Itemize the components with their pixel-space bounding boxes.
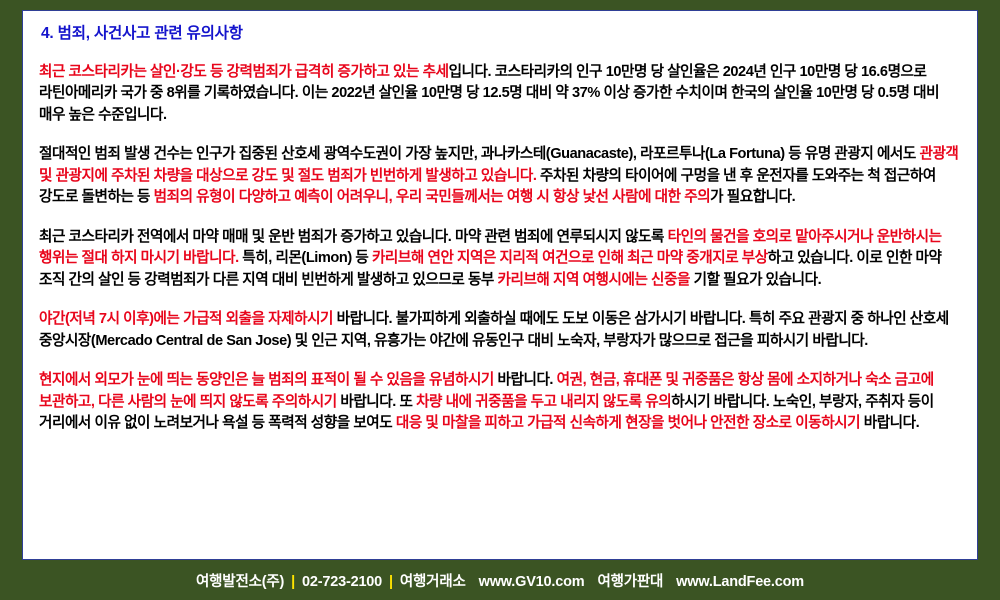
text-run-black: 특히, 리몬(Limon) 등	[239, 250, 372, 266]
footer-separator-1: |	[291, 574, 295, 590]
paragraph-p2-tourist-areas: 절대적인 범죄 발생 건수는 인구가 집중된 산호세 광역수도권이 가장 높지만…	[39, 144, 961, 209]
footer-content: 여행발전소(주) | 02-723-2100 | 여행거래소 www.GV10.…	[196, 570, 804, 591]
text-run-black: 바랍니다.	[860, 415, 919, 431]
paragraph-p5-valuables: 현지에서 외모가 눈에 띄는 동양인은 늘 범죄의 표적이 될 수 있음을 유념…	[39, 370, 961, 435]
footer-brand-label-landfee: 여행가판대	[597, 570, 663, 591]
text-run-red: 범죄의 유형이 다양하고 예측이 어려우니, 우리 국민들께서는 여행 시 항상…	[154, 189, 711, 205]
text-run-black: 기할 필요가 있습니다.	[690, 272, 821, 288]
document-content-card: 4. 범죄, 사건사고 관련 유의사항 최근 코스타리카는 살인·강도 등 강력…	[22, 10, 978, 560]
advisory-paragraph-list: 최근 코스타리카는 살인·강도 등 강력범죄가 급격히 증가하고 있는 추세입니…	[39, 62, 961, 435]
text-run-black: 절대적인 범죄 발생 건수는 인구가 집중된 산호세 광역수도권이 가장 높지만…	[39, 146, 919, 162]
footer-company-name: 여행발전소(주)	[196, 570, 284, 591]
footer-separator-2: |	[389, 574, 393, 590]
text-run-red: 카리브해 연안 지역은 지리적 여건으로 인해 최근 마약 중개지로 부상	[372, 250, 768, 266]
text-run-black: 바랍니다. 또	[337, 394, 416, 410]
footer-bar: 여행발전소(주) | 02-723-2100 | 여행거래소 www.GV10.…	[0, 560, 1000, 600]
text-run-red: 현지에서 외모가 눈에 띄는 동양인은 늘 범죄의 표적이 될 수 있음을 유념…	[39, 372, 494, 388]
footer-phone-number[interactable]: 02-723-2100	[302, 574, 382, 590]
text-run-black: 가 필요합니다.	[710, 189, 795, 205]
paragraph-p4-night-time: 야간(저녁 7시 이후)에는 가급적 외출을 자제하시기 바랍니다. 불가피하게…	[39, 309, 961, 352]
footer-link-landfee[interactable]: www.LandFee.com	[676, 574, 804, 590]
text-run-black: 바랍니다.	[494, 372, 557, 388]
page-title: 4. 범죄, 사건사고 관련 유의사항	[41, 25, 961, 44]
text-run-red: 카리브해 지역 여행시에는 신중을	[498, 272, 690, 288]
document-page: 4. 범죄, 사건사고 관련 유의사항 최근 코스타리카는 살인·강도 등 강력…	[0, 0, 1000, 600]
paragraph-p3-drug-crime: 최근 코스타리카 전역에서 마약 매매 및 운반 범죄가 증가하고 있습니다. …	[39, 227, 961, 292]
text-run-red: 대응 및 마찰을 피하고 가급적 신속하게 현장을 벗어나 안전한 장소로 이동…	[396, 415, 860, 431]
text-run-red: 최근 코스타리카는 살인·강도 등 강력범죄가 급격히 증가하고 있는 추세	[39, 64, 449, 80]
footer-brand-label-gv10: 여행거래소	[400, 570, 466, 591]
footer-link-gv10[interactable]: www.GV10.com	[479, 574, 585, 590]
text-run-red: 차량 내에 귀중품을 두고 내리지 않도록 유의	[416, 394, 671, 410]
paragraph-p1-homicide-rate: 최근 코스타리카는 살인·강도 등 강력범죄가 급격히 증가하고 있는 추세입니…	[39, 62, 961, 127]
text-run-red: 야간(저녁 7시 이후)에는 가급적 외출을 자제하시기	[39, 311, 333, 327]
text-run-black: 최근 코스타리카 전역에서 마약 매매 및 운반 범죄가 증가하고 있습니다. …	[39, 229, 668, 245]
